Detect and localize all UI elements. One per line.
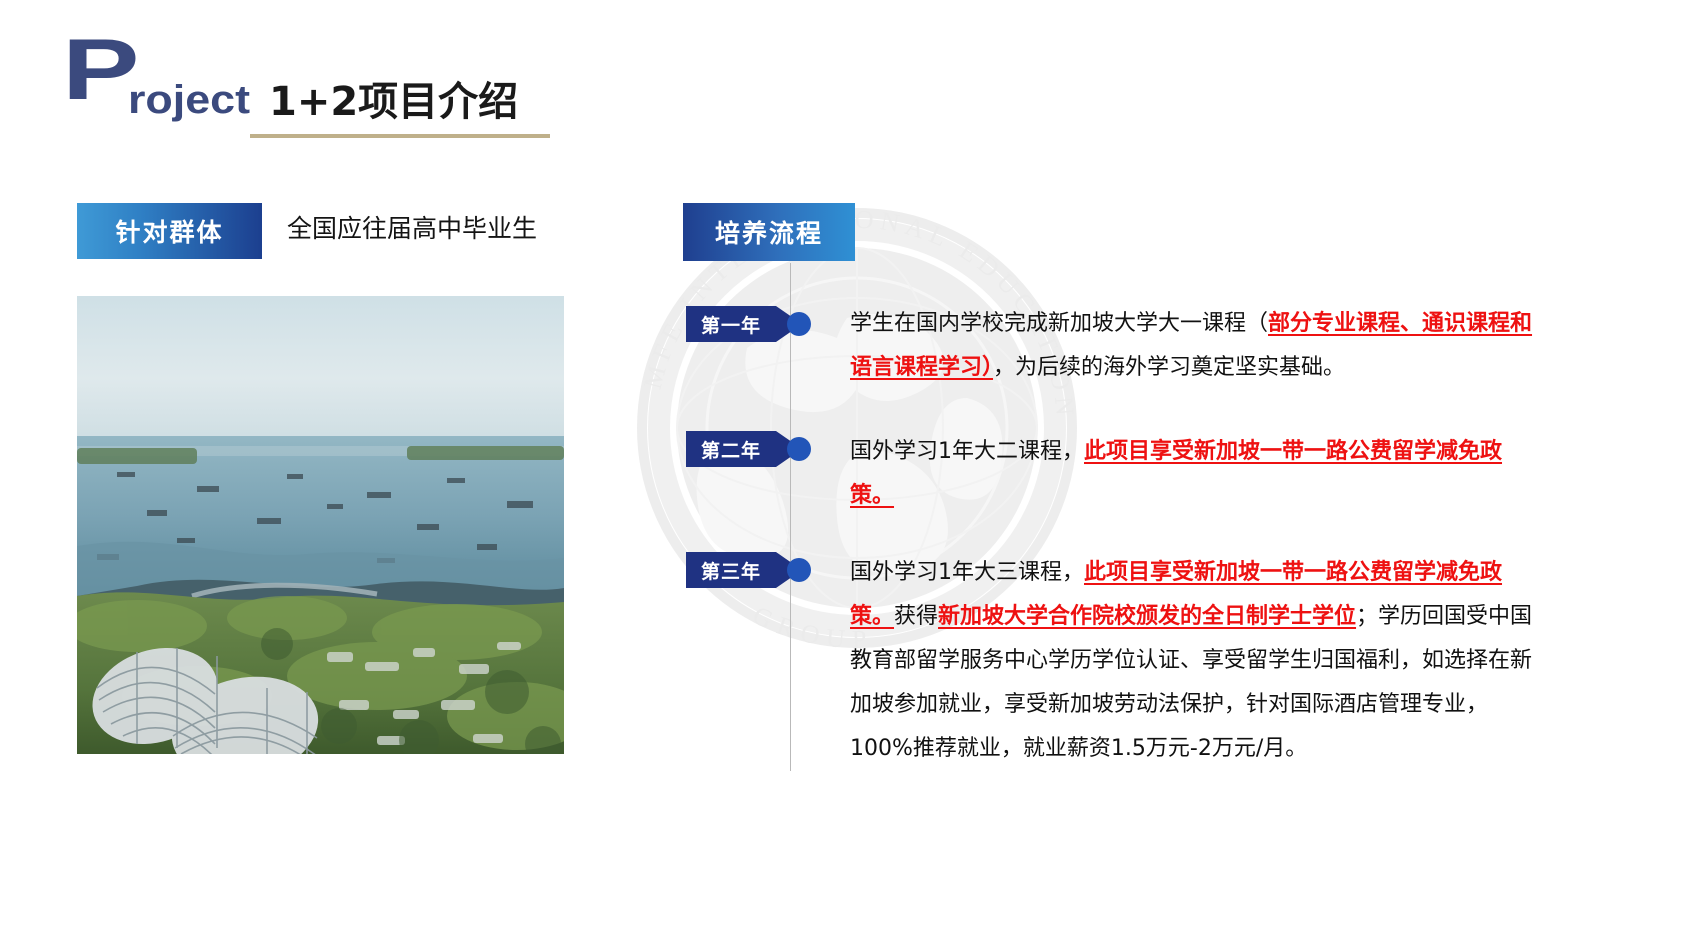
step-tag-year-3: 第三年 (686, 552, 776, 588)
step-text-year-3: 国外学习1年大三课程，此项目享受新加坡一带一路公费留学减免政策。获得新加坡大学合… (850, 551, 1540, 771)
text-segment: 国外学习1年大二课程， (850, 439, 1084, 464)
step-tag-year-1: 第一年 (686, 306, 776, 342)
slide-canvas: MFE INTERNATIONAL EDUCATION GROUP P roje… (0, 0, 1693, 946)
target-group-badge: 针对群体 (77, 203, 262, 259)
title-chinese: 1+2项目介绍 (269, 80, 518, 124)
text-segment: 获得 (894, 604, 938, 629)
step-dot-icon (787, 558, 811, 582)
text-segment: 国外学习1年大三课程， (850, 560, 1084, 585)
title-underline-rule (250, 134, 550, 138)
step-tag-year-2: 第二年 (686, 431, 776, 467)
target-group-description: 全国应往届高中毕业生 (287, 209, 537, 245)
step-text-year-2: 国外学习1年大二课程，此项目享受新加坡一带一路公费留学减免政策。 (850, 430, 1540, 518)
text-segment: 学生在国内学校完成新加坡大学大一课程（ (850, 311, 1268, 336)
step-text-year-1: 学生在国内学校完成新加坡大学大一课程（部分专业课程、通识课程和语言课程学习），为… (850, 302, 1540, 390)
singapore-photo (77, 296, 564, 754)
text-segment-highlight: 新加坡大学合作院校颁发的全日制学士学位 (938, 604, 1356, 629)
training-flow-badge: 培养流程 (683, 203, 855, 261)
title-initial-p: P (62, 34, 137, 106)
step-dot-icon (787, 312, 811, 336)
step-dot-icon (787, 437, 811, 461)
text-segment: ，为后续的海外学习奠定坚实基础。 (993, 355, 1345, 380)
title-word-project: roject (128, 80, 250, 120)
